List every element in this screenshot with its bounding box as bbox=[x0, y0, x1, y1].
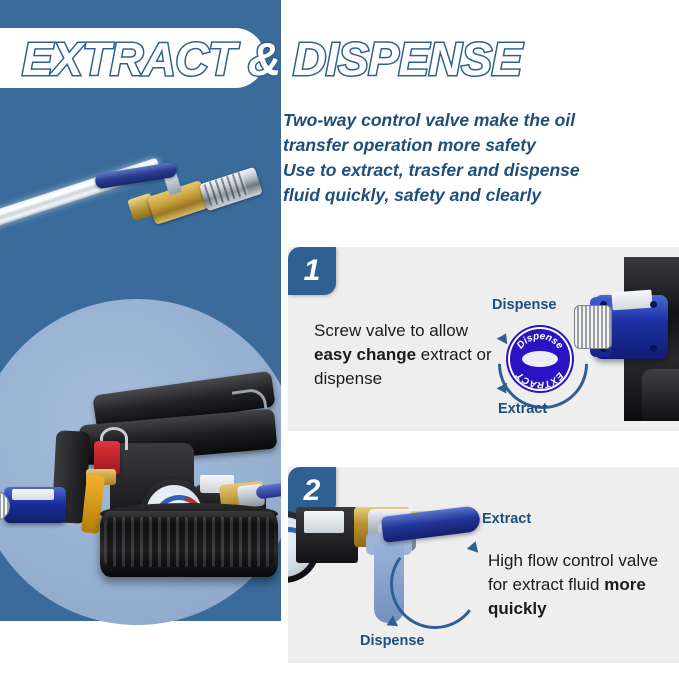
product-infographic: EXTRACT & DISPENSE Two-way control valve… bbox=[0, 0, 679, 679]
subtitle-line-1: Two-way control valve make the oil bbox=[283, 108, 675, 133]
subtitle-line-3: Use to extract, trasfer and dispense bbox=[283, 158, 675, 183]
step-1-valve-photo bbox=[588, 257, 679, 421]
subtitle-line-2: transfer operation more safety bbox=[283, 133, 675, 158]
valve-bolt-hole bbox=[650, 345, 657, 352]
step-2-label-top: Extract bbox=[482, 511, 531, 527]
side-valve-label bbox=[12, 489, 54, 500]
extractor-pump-photo bbox=[24, 391, 274, 601]
step-1-rotation-diagram: Dispense Dispense EXTRACT Extract bbox=[484, 297, 588, 417]
step-1-badge: 1 bbox=[288, 247, 336, 295]
step-card-2: 2 Extract Dispense High flow control val… bbox=[288, 467, 679, 663]
blue-valve-label bbox=[611, 290, 652, 311]
chrome-coupler-rings bbox=[203, 171, 248, 206]
valve-bolt-hole bbox=[650, 301, 657, 308]
step-1-label-bottom: Extract bbox=[498, 401, 547, 417]
svg-text:EXTRACT: EXTRACT bbox=[514, 369, 565, 389]
pump-body-backdrop-2 bbox=[642, 369, 679, 421]
step-card-1: 1 Screw valve to allow easy change extra… bbox=[288, 247, 679, 431]
knurled-screw-knob bbox=[574, 305, 612, 349]
step-1-label-top: Dispense bbox=[492, 297, 556, 313]
valve-emblem-text: Dispense EXTRACT bbox=[510, 329, 570, 389]
svg-text:Dispense: Dispense bbox=[515, 331, 565, 352]
lever-rotation-arrow-head-icon bbox=[467, 539, 482, 552]
step-2-label-bottom: Dispense bbox=[360, 633, 424, 649]
valve-label-plate bbox=[304, 511, 344, 533]
step-1-text-before: Screw valve to allow bbox=[314, 321, 468, 340]
page-title: EXTRACT & DISPENSE bbox=[22, 32, 662, 86]
subtitle-block: Two-way control valve make the oil trans… bbox=[283, 108, 675, 208]
step-1-text-bold: easy change bbox=[314, 345, 416, 364]
step-2-text: High flow control valve for extract flui… bbox=[488, 549, 668, 621]
step-1-text: Screw valve to allow easy change extract… bbox=[314, 319, 494, 391]
subtitle-line-4: fluid quickly, safety and clearly bbox=[283, 183, 675, 208]
jar-cap-ribs bbox=[104, 517, 274, 567]
hero-valve-photo bbox=[0, 120, 281, 241]
product-panel bbox=[0, 241, 281, 679]
